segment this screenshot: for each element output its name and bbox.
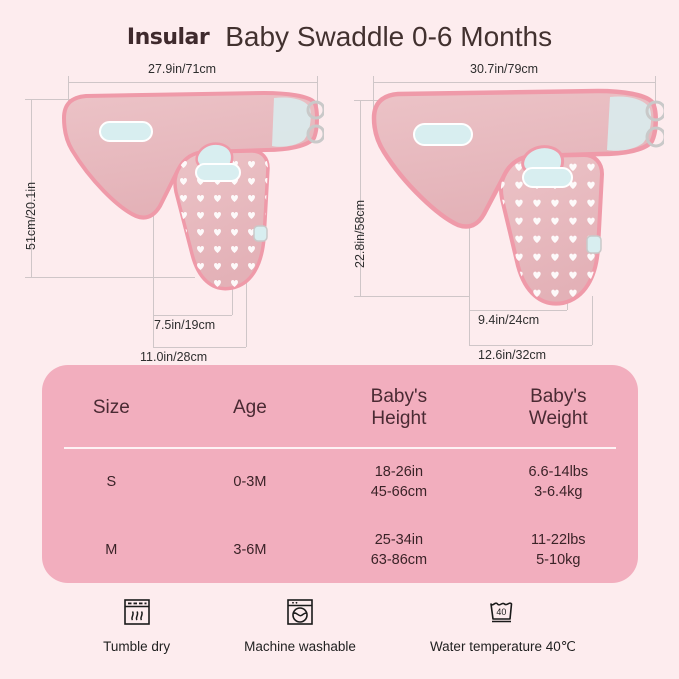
column-header-height: Baby's Height bbox=[319, 369, 478, 447]
column-header-size: Size bbox=[42, 369, 181, 447]
dimension-line-top bbox=[68, 82, 318, 83]
table-row: S bbox=[42, 449, 181, 517]
table-row: 25-34in 63-86cm bbox=[319, 517, 478, 585]
water-temperature-value: 40 bbox=[496, 607, 506, 617]
dimension-line-top bbox=[373, 82, 656, 83]
side-tab bbox=[587, 236, 601, 253]
dimension-outer-line bbox=[469, 345, 592, 346]
dimension-label-width: 30.7in/79cm bbox=[470, 62, 538, 76]
water-temperature-icon: 40 bbox=[483, 592, 523, 632]
care-label: Tumble dry bbox=[103, 639, 170, 654]
header: Insular Baby Swaddle 0-6 Months bbox=[0, 14, 679, 60]
care-label: Water temperature 40℃ bbox=[430, 639, 576, 655]
dimension-label-inner-bottom: 7.5in/19cm bbox=[154, 318, 215, 332]
infographic-page: Insular Baby Swaddle 0-6 Months bbox=[0, 0, 679, 679]
dimension-inner-line bbox=[469, 310, 567, 311]
table-row: 6.6-14lbs 3-6.4kg bbox=[479, 449, 638, 517]
care-item-machine-washable: Machine washable bbox=[244, 592, 356, 654]
column-header-weight: Baby's Weight bbox=[479, 369, 638, 447]
diagrams-section: 27.9in/71cm 51cm/20.1in 7.5in/19cm 11.0i… bbox=[0, 60, 679, 360]
dimension-outer-left bbox=[469, 310, 470, 345]
size-chart-table: Size Age Baby's Height Baby's Weight S 0… bbox=[42, 365, 638, 583]
dimension-label-height: 22.8in/58cm bbox=[353, 200, 367, 268]
care-label: Machine washable bbox=[244, 639, 356, 654]
size-chart-grid: Size Age Baby's Height Baby's Weight S 0… bbox=[42, 365, 638, 583]
dimension-label-inner-bottom: 9.4in/24cm bbox=[478, 313, 539, 327]
dimension-outer-line bbox=[153, 347, 246, 348]
diagram-medium-swaddle: 30.7in/79cm 22.8in/58cm 9.4in/24cm 12.6i… bbox=[330, 60, 679, 360]
swaddle-illustration-small bbox=[56, 88, 324, 293]
care-item-water-temperature: 40 Water temperature 40℃ bbox=[430, 592, 576, 655]
velcro-patch bbox=[523, 168, 572, 187]
velcro-patch bbox=[196, 164, 240, 181]
brand-logo: Insular bbox=[127, 25, 209, 50]
table-row: 11-22lbs 5-10kg bbox=[479, 517, 638, 585]
swaddle-illustration-medium bbox=[366, 86, 664, 308]
velcro-patch bbox=[100, 122, 152, 141]
page-title: Baby Swaddle 0-6 Months bbox=[225, 21, 552, 53]
tumble-dry-icon bbox=[117, 592, 157, 632]
table-row: 0-3M bbox=[181, 449, 320, 517]
column-header-age: Age bbox=[181, 369, 320, 447]
machine-washable-icon bbox=[280, 592, 320, 632]
side-tab bbox=[254, 226, 267, 241]
table-row: 3-6M bbox=[181, 517, 320, 585]
care-instructions: Tumble dry Machine washable bbox=[0, 592, 679, 672]
dimension-inner-line bbox=[153, 315, 232, 316]
dimension-label-outer-bottom: 11.0in/28cm bbox=[140, 350, 207, 364]
dimension-label-outer-bottom: 12.6in/32cm bbox=[478, 348, 546, 362]
velcro-patch bbox=[414, 124, 472, 145]
care-item-tumble-dry: Tumble dry bbox=[103, 592, 170, 654]
table-row: M bbox=[42, 517, 181, 585]
table-row: 18-26in 45-66cm bbox=[319, 449, 478, 517]
diagram-small-swaddle: 27.9in/71cm 51cm/20.1in 7.5in/19cm 11.0i… bbox=[0, 60, 340, 360]
dimension-label-height: 51cm/20.1in bbox=[24, 182, 38, 250]
dimension-label-width: 27.9in/71cm bbox=[148, 62, 216, 76]
